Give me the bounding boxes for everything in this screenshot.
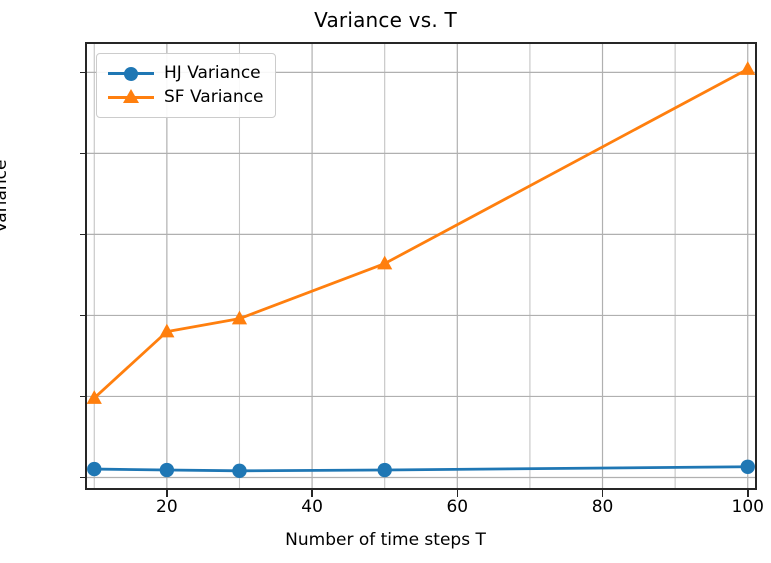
triangle-marker-icon: [123, 89, 139, 103]
x-tick-label: 20: [137, 497, 197, 517]
y-tick-mark: [80, 234, 87, 236]
x-tick-mark: [457, 490, 459, 497]
y-gridlines: [87, 72, 755, 477]
x-tick-label: 40: [282, 497, 342, 517]
y-tick-mark: [80, 315, 87, 317]
legend-item-hj-variance[interactable]: HJ Variance: [108, 61, 263, 85]
legend-key-triangle-icon: [108, 86, 154, 108]
y-axis-label: Variance: [0, 33, 11, 233]
chart-figure: Variance vs. T Variance 0.00.51.01.52.02…: [0, 0, 771, 563]
data-series-layer: [87, 61, 755, 478]
x-tick-mark: [311, 490, 313, 497]
x-tick-label: 100: [718, 497, 771, 517]
x-tick-mark: [602, 490, 604, 497]
y-tick-mark: [80, 396, 87, 398]
x-tick-label: 80: [573, 497, 633, 517]
x-axis-label: Number of time steps T: [0, 530, 771, 550]
x-tick-label: 60: [427, 497, 487, 517]
legend-label-hj-variance: HJ Variance: [164, 63, 261, 83]
chart-legend[interactable]: HJ Variance SF Variance: [96, 53, 276, 118]
y-tick-mark: [80, 153, 87, 155]
legend-key-circle-icon: [108, 62, 154, 84]
y-tick-mark: [80, 72, 87, 74]
y-tick-mark: [80, 477, 87, 479]
legend-item-sf-variance[interactable]: SF Variance: [108, 85, 263, 109]
circle-marker-icon: [124, 67, 138, 81]
chart-title: Variance vs. T: [0, 8, 771, 32]
x-tick-mark: [166, 490, 168, 497]
x-tick-mark: [747, 490, 749, 497]
legend-label-sf-variance: SF Variance: [164, 87, 263, 107]
